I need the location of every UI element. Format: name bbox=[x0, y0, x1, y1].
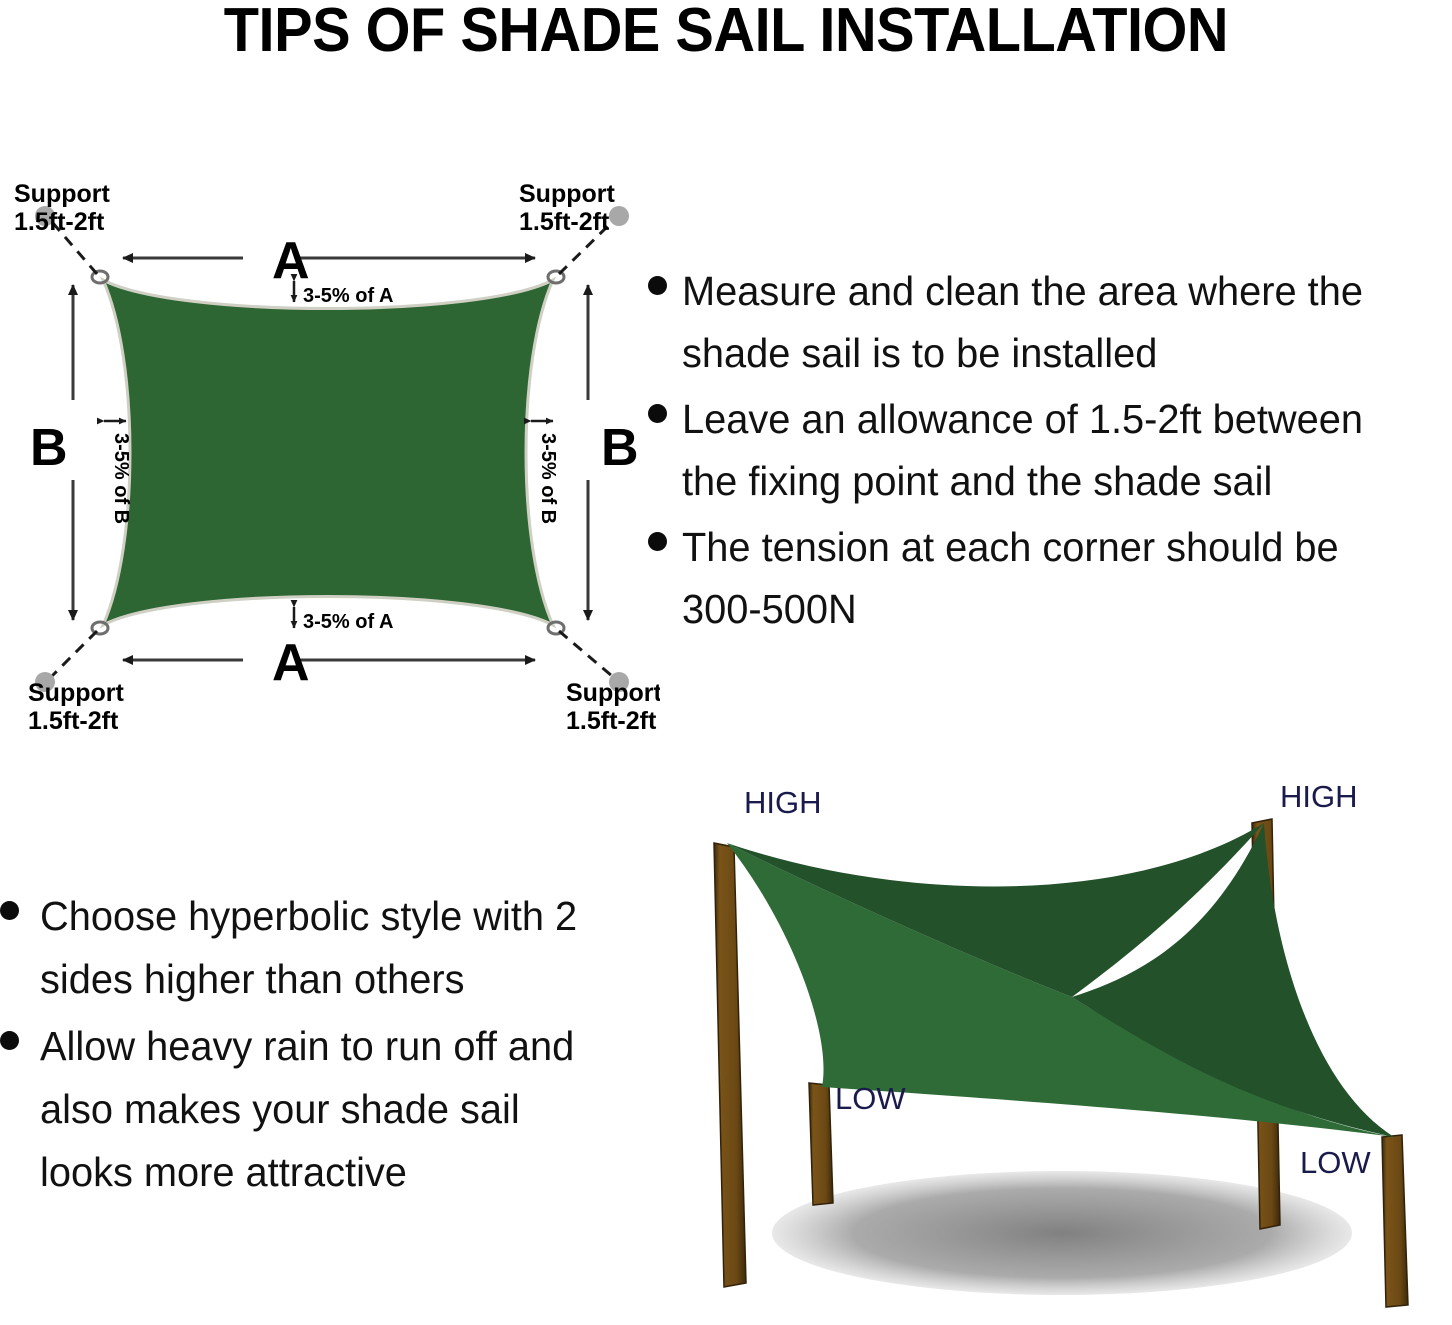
curvature-note-left: 3-5% of B bbox=[110, 433, 132, 524]
curvature-note-top: 3-5% of A bbox=[303, 285, 393, 307]
dimension-label-b-left: B bbox=[30, 419, 68, 477]
svg-text:Support: Support bbox=[519, 180, 615, 208]
dimension-label-a-top: A bbox=[272, 232, 310, 290]
page-title: TIPS OF SHADE SAIL INSTALLATION bbox=[224, 0, 1228, 62]
svg-text:Support: Support bbox=[28, 679, 124, 707]
bullet-icon bbox=[0, 885, 40, 920]
label-high-left: HIGH bbox=[744, 785, 822, 820]
curvature-note-right: 3-5% of B bbox=[537, 433, 559, 524]
tip-item: Allow heavy rain to run off and also mak… bbox=[0, 1015, 640, 1204]
page-header: TIPS OF SHADE SAIL INSTALLATION bbox=[0, 0, 1452, 62]
support-line-bottom-left bbox=[52, 631, 97, 676]
tip-item: Leave an allowance of 1.5-2ft between th… bbox=[648, 388, 1452, 512]
post-low-left bbox=[809, 1083, 833, 1205]
support-label-bottom-right: Support 1.5ft-2ft bbox=[566, 679, 660, 735]
label-low-left: LOW bbox=[835, 1081, 906, 1116]
post-high-left bbox=[714, 843, 746, 1287]
label-high-right: HIGH bbox=[1280, 785, 1358, 814]
bullet-icon bbox=[0, 1015, 40, 1050]
installation-tips-list-bottom: Choose hyperbolic style with 2 sides hig… bbox=[0, 885, 640, 1208]
tip-text: Allow heavy rain to run off and also mak… bbox=[40, 1015, 622, 1204]
post-low-right bbox=[1382, 1135, 1408, 1307]
support-label-top-left: Support 1.5ft-2ft bbox=[14, 180, 110, 236]
tip-text: The tension at each corner should be 300… bbox=[682, 516, 1429, 640]
tip-item: Choose hyperbolic style with 2 sides hig… bbox=[0, 885, 640, 1011]
tip-text: Choose hyperbolic style with 2 sides hig… bbox=[40, 885, 622, 1011]
svg-text:1.5ft-2ft: 1.5ft-2ft bbox=[566, 707, 657, 735]
label-low-right: LOW bbox=[1300, 1145, 1371, 1180]
support-dot-top-right bbox=[609, 206, 629, 226]
curvature-note-bottom: 3-5% of A bbox=[303, 611, 393, 633]
svg-text:Support: Support bbox=[14, 180, 110, 208]
support-line-bottom-right bbox=[559, 631, 612, 676]
svg-text:Support: Support bbox=[566, 679, 660, 707]
tip-text: Measure and clean the area where the sha… bbox=[682, 260, 1429, 384]
support-label-bottom-left: Support 1.5ft-2ft bbox=[28, 679, 124, 735]
svg-text:1.5ft-2ft: 1.5ft-2ft bbox=[14, 208, 105, 236]
dimension-label-a-bottom: A bbox=[272, 634, 310, 692]
bullet-icon bbox=[648, 516, 682, 551]
support-label-top-right: Support 1.5ft-2ft bbox=[519, 180, 615, 236]
bottom-section: Choose hyperbolic style with 2 sides hig… bbox=[0, 760, 1452, 1325]
svg-text:1.5ft-2ft: 1.5ft-2ft bbox=[28, 707, 119, 735]
dimension-label-b-right: B bbox=[601, 419, 639, 477]
hyperbolic-sail-diagram: HIGH HIGH LOW LOW bbox=[672, 785, 1452, 1325]
svg-text:1.5ft-2ft: 1.5ft-2ft bbox=[519, 208, 610, 236]
rectangular-sail-diagram: A A B B 3-5% of A 3-5% of A 3-5% of B 3-… bbox=[0, 150, 660, 750]
tip-item: The tension at each corner should be 300… bbox=[648, 516, 1452, 640]
bullet-icon bbox=[648, 260, 682, 295]
sail-shape bbox=[103, 280, 553, 625]
top-section: A A B B 3-5% of A 3-5% of A 3-5% of B 3-… bbox=[0, 150, 1452, 760]
tip-item: Measure and clean the area where the sha… bbox=[648, 260, 1452, 384]
bullet-icon bbox=[648, 388, 682, 423]
installation-tips-list-top: Measure and clean the area where the sha… bbox=[648, 260, 1452, 644]
tip-text: Leave an allowance of 1.5-2ft between th… bbox=[682, 388, 1429, 512]
